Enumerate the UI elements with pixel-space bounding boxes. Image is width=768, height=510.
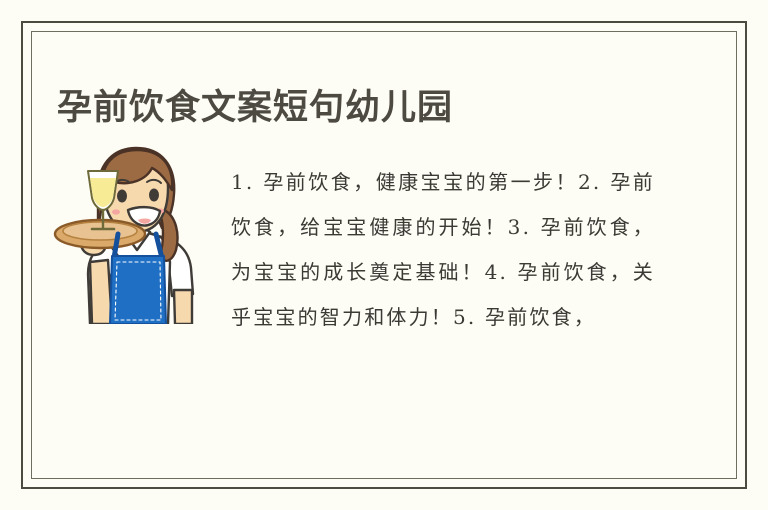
arm-left (90, 260, 112, 324)
article-page: 孕前饮食文案短句幼儿园 (0, 0, 768, 510)
eye-right (149, 189, 159, 202)
article-body: 1. 孕前饮食，健康宝宝的第一步！2. 孕前饮食，给宝宝健康的开始！3. 孕前饮… (231, 160, 655, 340)
eye-left (117, 190, 127, 203)
page-title: 孕前饮食文案短句幼儿园 (57, 85, 453, 131)
tray-inner-ring (63, 222, 137, 240)
arm-right (174, 290, 192, 324)
cheek-left (112, 209, 120, 214)
waitress-with-tray-illustration (52, 138, 204, 324)
apron-body (110, 256, 166, 324)
